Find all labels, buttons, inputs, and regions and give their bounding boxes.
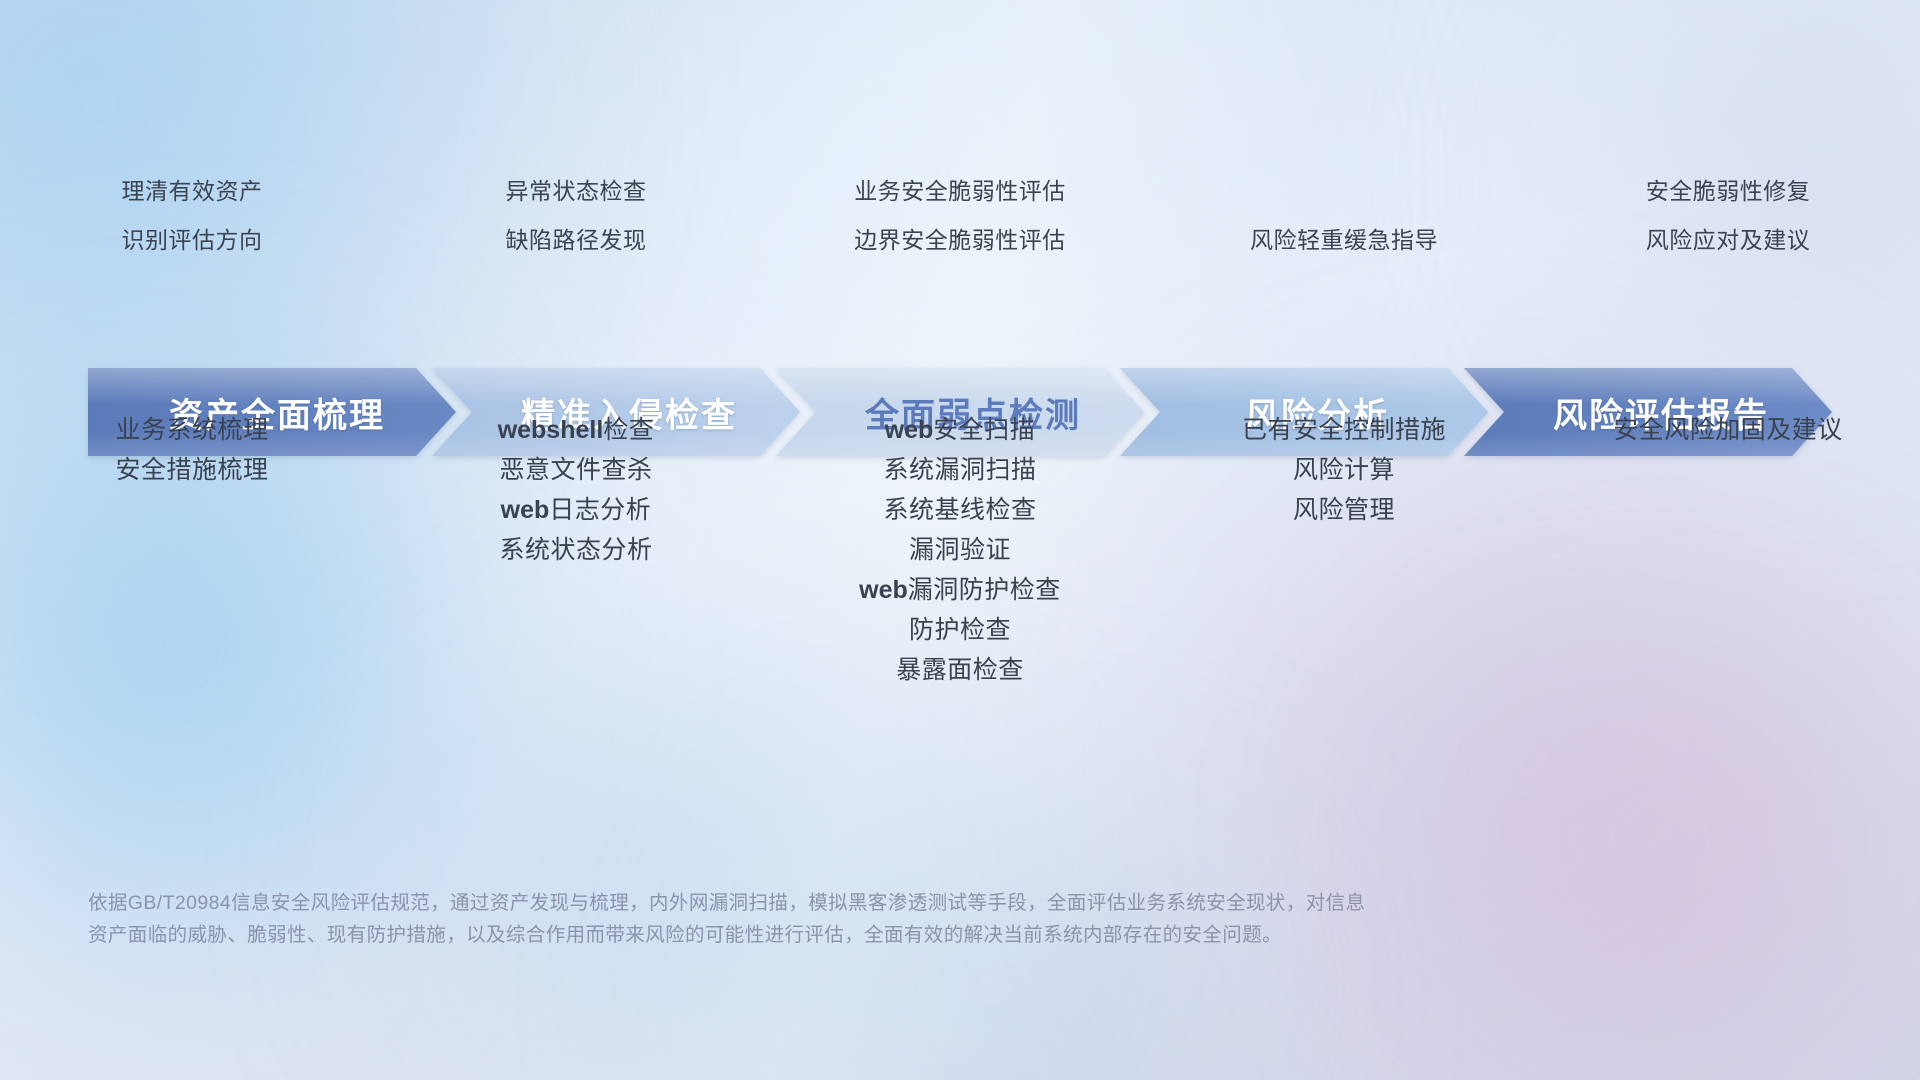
bottom-detail-item: 暴露面检查 xyxy=(896,658,1024,683)
bottom-detail-item: 漏洞验证 xyxy=(909,538,1011,563)
bottom-detail-group: 已有安全控制措施风险计算风险管理 xyxy=(1152,418,1536,698)
top-descriptor-group: 业务安全脆弱性评估边界安全脆弱性评估 xyxy=(768,180,1152,252)
footer-line-2: 资产面临的威胁、脆弱性、现有防护措施，以及综合作用而带来风险的可能性进行评估，全… xyxy=(88,920,1378,952)
process-diagram: 理清有效资产识别评估方向异常状态检查缺陷路径发现业务安全脆弱性评估边界安全脆弱性… xyxy=(0,0,1920,1080)
bottom-detail-item: 系统漏洞扫描 xyxy=(883,458,1036,483)
bottom-detail-row: 业务系统梳理安全措施梳理webshell检查恶意文件查杀web日志分析系统状态分… xyxy=(0,418,1920,698)
top-descriptor-item: 异常状态检查 xyxy=(506,180,647,203)
bottom-detail-item: 恶意文件查杀 xyxy=(499,458,652,483)
bottom-detail-item: 安全风险加固及建议 xyxy=(1613,418,1843,443)
bottom-detail-group: webshell检查恶意文件查杀web日志分析系统状态分析 xyxy=(384,418,768,698)
bottom-detail-group: 安全风险加固及建议 xyxy=(1536,418,1920,698)
bottom-detail-group: web安全扫描系统漏洞扫描系统基线检查漏洞验证web漏洞防护检查防护检查暴露面检… xyxy=(768,418,1152,698)
top-descriptor-group: 异常状态检查缺陷路径发现 xyxy=(384,180,768,252)
bottom-detail-item: web漏洞防护检查 xyxy=(859,578,1061,603)
bottom-detail-item: 已有安全控制措施 xyxy=(1242,418,1446,443)
bottom-detail-item: 系统基线检查 xyxy=(883,498,1036,523)
bottom-detail-item: 业务系统梳理 xyxy=(115,418,268,443)
top-descriptor-item: 理清有效资产 xyxy=(122,180,263,203)
top-descriptor-row: 理清有效资产识别评估方向异常状态检查缺陷路径发现业务安全脆弱性评估边界安全脆弱性… xyxy=(0,180,1920,252)
top-descriptor-group: 风险轻重缓急指导 xyxy=(1152,180,1536,252)
top-descriptor-group: 安全脆弱性修复风险应对及建议 xyxy=(1536,180,1920,252)
bottom-detail-item: web日志分析 xyxy=(501,498,652,523)
top-descriptor-item: 风险应对及建议 xyxy=(1646,229,1811,252)
bottom-detail-item: 风险计算 xyxy=(1293,458,1395,483)
top-descriptor-item: 业务安全脆弱性评估 xyxy=(854,180,1066,203)
top-descriptor-group: 理清有效资产识别评估方向 xyxy=(0,180,384,252)
bottom-detail-item: 安全措施梳理 xyxy=(115,458,268,483)
top-descriptor-item: 识别评估方向 xyxy=(122,229,263,252)
top-descriptor-item: 边界安全脆弱性评估 xyxy=(854,229,1066,252)
bottom-detail-item: 防护检查 xyxy=(909,618,1011,643)
footer-description: 依据GB/T20984信息安全风险评估规范，通过资产发现与梳理，内外网漏洞扫描，… xyxy=(88,888,1378,951)
footer-line-1: 依据GB/T20984信息安全风险评估规范，通过资产发现与梳理，内外网漏洞扫描，… xyxy=(88,888,1378,920)
top-descriptor-item: 安全脆弱性修复 xyxy=(1646,180,1811,203)
bottom-detail-group: 业务系统梳理安全措施梳理 xyxy=(0,418,384,698)
top-descriptor-item: 缺陷路径发现 xyxy=(506,229,647,252)
top-descriptor-item: 风险轻重缓急指导 xyxy=(1250,229,1438,252)
bottom-detail-item: webshell检查 xyxy=(498,418,655,443)
bottom-detail-item: 系统状态分析 xyxy=(499,538,652,563)
bottom-detail-item: web安全扫描 xyxy=(885,418,1036,443)
bottom-detail-item: 风险管理 xyxy=(1293,498,1395,523)
